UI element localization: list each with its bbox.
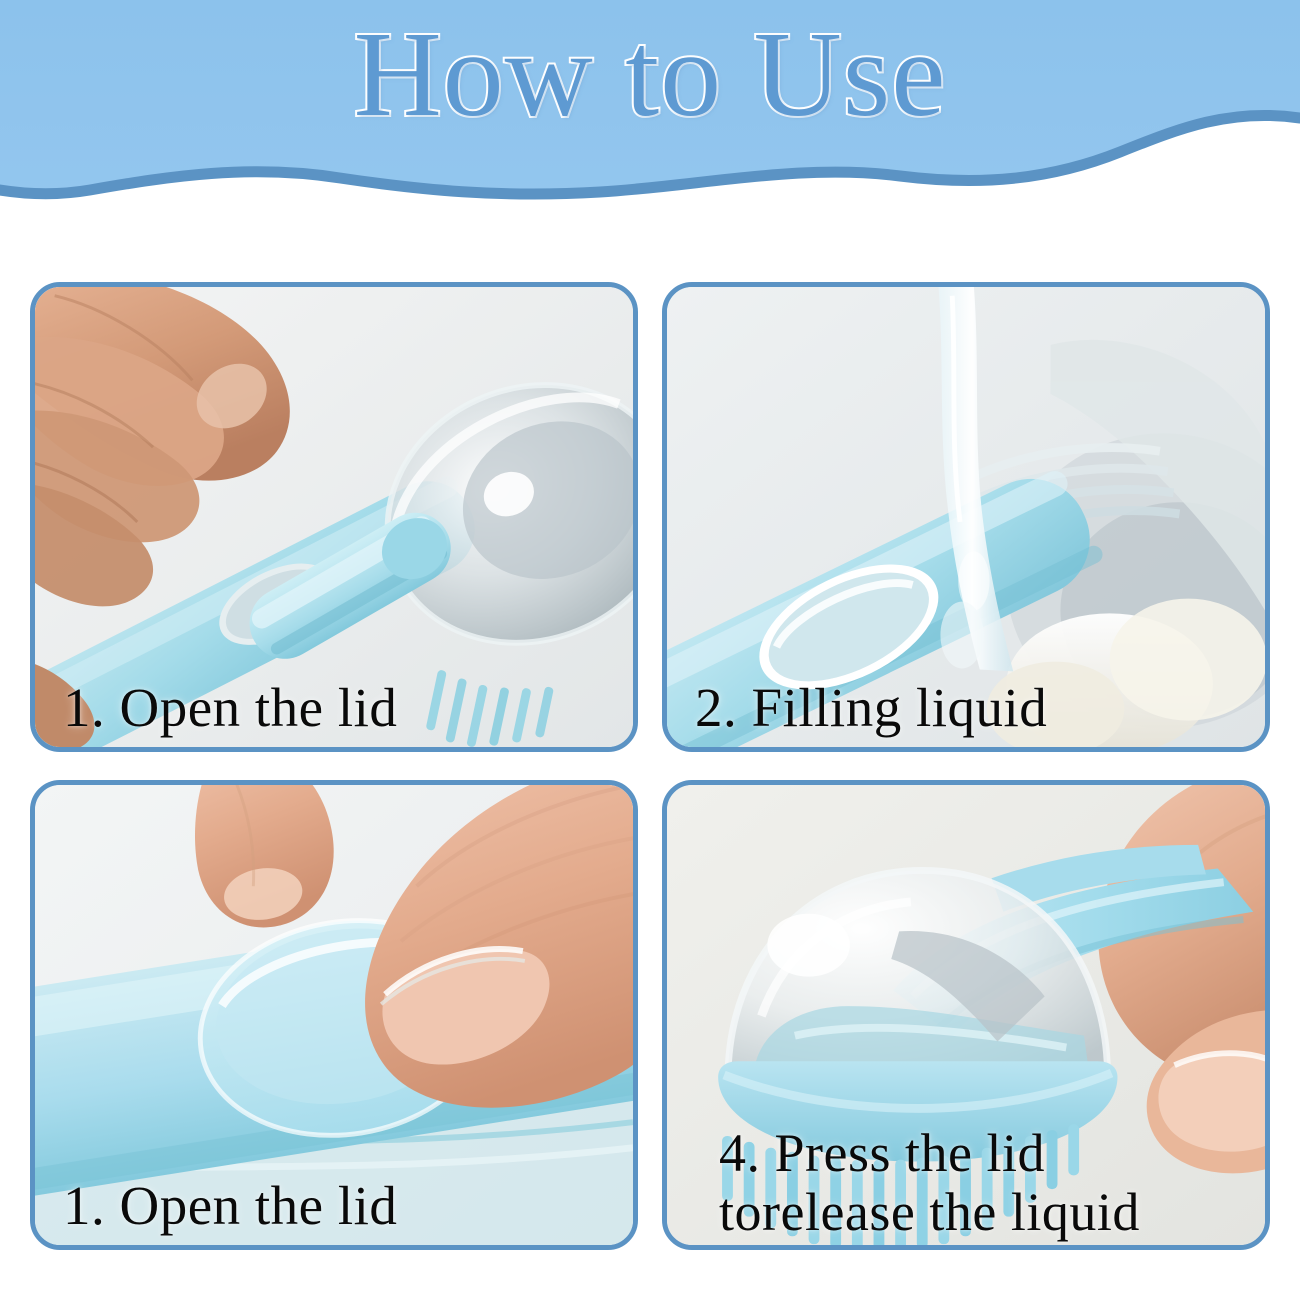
header-wave-graphic <box>0 0 1300 210</box>
step-4-caption: 4. Press the lid torelease the liquid <box>719 1124 1140 1241</box>
page-header-banner: How to Use <box>0 0 1300 210</box>
step-panel-2: 2. Filling liquid <box>662 282 1270 752</box>
steps-grid: 1. Open the lid <box>30 282 1270 1250</box>
step-2-caption: 2. Filling liquid <box>695 679 1047 737</box>
step-3-caption: 1. Open the lid <box>63 1177 397 1235</box>
step-panel-3: 1. Open the lid <box>30 780 638 1250</box>
step-1-caption: 1. Open the lid <box>63 679 397 737</box>
step-panel-1: 1. Open the lid <box>30 282 638 752</box>
step-panel-4: 4. Press the lid torelease the liquid <box>662 780 1270 1250</box>
